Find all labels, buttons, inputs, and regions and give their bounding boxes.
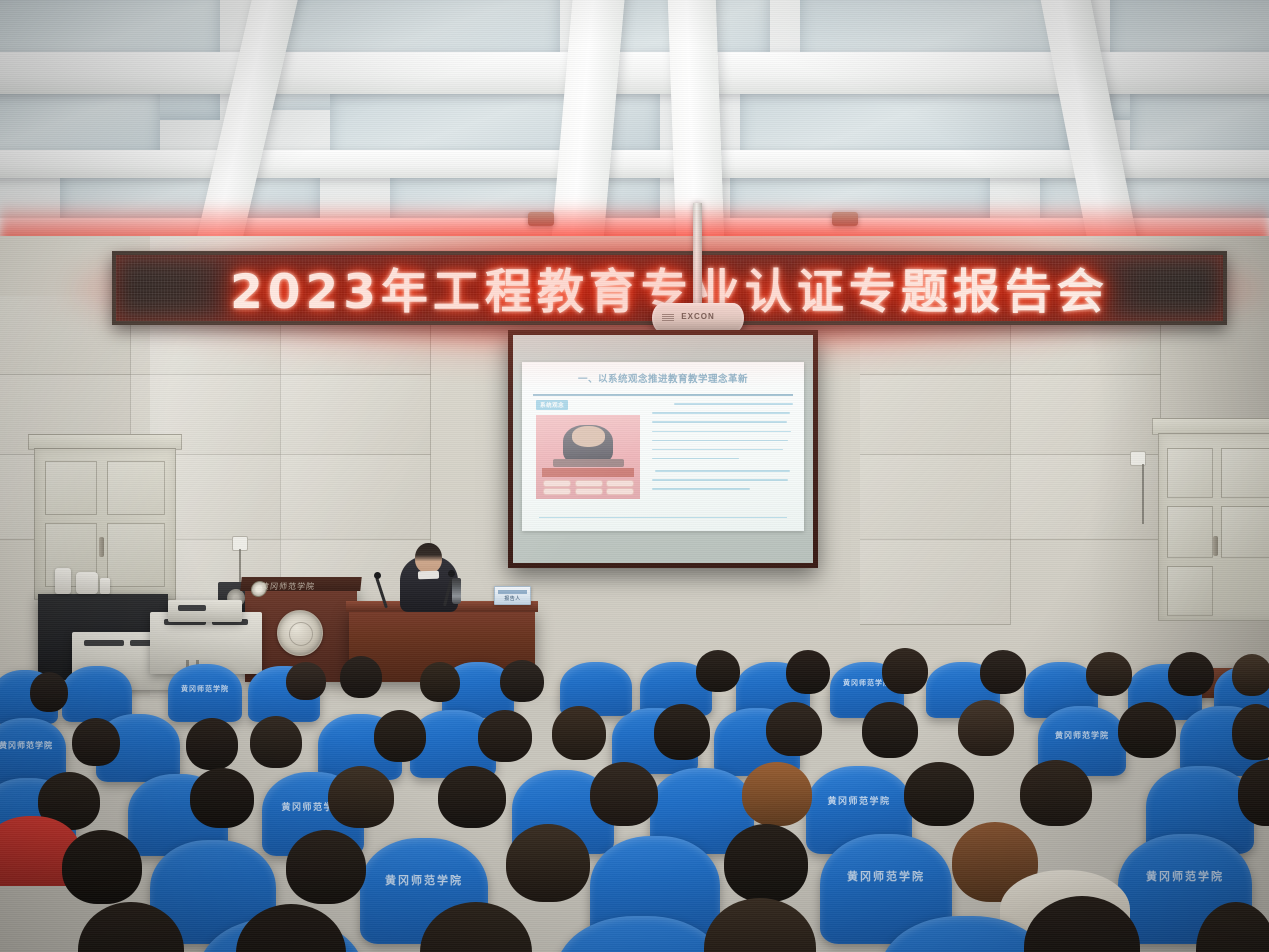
water-bottle <box>452 578 461 604</box>
audience-head <box>478 710 532 762</box>
nameplate-text: 报告人 <box>495 595 530 602</box>
photo-caption-bar <box>542 468 634 477</box>
ceiling-projector: EXCON <box>652 303 744 333</box>
photo-button <box>543 488 571 495</box>
audience-head <box>786 650 830 694</box>
audience-head <box>590 762 658 826</box>
audience-head <box>958 700 1014 756</box>
door-panel <box>1221 448 1269 498</box>
projection-screen: 一、以系统观念推进教育教学理念革新 系统观念 <box>508 330 818 568</box>
seat-label: 黄冈师范学院 <box>806 794 912 807</box>
audience-head <box>250 716 302 768</box>
seat-label: 黄冈师范学院 <box>168 684 242 694</box>
lectern-nameplate-text: 黄冈师范学院 <box>260 581 315 592</box>
photo-button <box>606 480 634 487</box>
audience-head <box>882 648 928 694</box>
photo-speaker-face <box>572 426 605 446</box>
door-panel <box>107 461 165 515</box>
audience-head <box>500 660 544 702</box>
audience-head <box>72 718 120 766</box>
speaker-head <box>415 543 442 573</box>
audience-head <box>1086 652 1132 696</box>
screen-surface: 一、以系统观念推进教育教学理念革新 系统观念 <box>513 335 813 563</box>
slide-body-text <box>652 401 793 502</box>
audience-head <box>862 702 918 758</box>
door-panel <box>1167 566 1213 616</box>
wall-panel <box>860 454 1011 540</box>
audience-head <box>654 704 710 760</box>
audience-head <box>186 718 238 770</box>
door-handle[interactable] <box>1213 536 1218 556</box>
audience-head <box>286 662 326 700</box>
projector-brand-label: EXCON <box>652 312 744 321</box>
audience-seating: 黄冈师范学院 黄冈师范学院 黄冈师范学院 <box>0 640 1269 952</box>
audience-head <box>980 650 1026 694</box>
presentation-slide: 一、以系统观念推进教育教学理念革新 系统观念 <box>522 362 804 531</box>
audience-head <box>328 766 394 828</box>
audience-head <box>742 762 812 826</box>
microphone-head-icon <box>448 570 455 577</box>
table-nameplate: 报告人 <box>494 586 531 605</box>
kettle-object <box>55 568 71 594</box>
audience-head <box>704 898 816 952</box>
slide-photo <box>536 415 640 499</box>
photo-button <box>543 480 571 487</box>
audience-head <box>506 824 590 902</box>
door-panel <box>107 523 165 587</box>
audience-head <box>904 762 974 826</box>
wall-panel <box>860 374 1011 455</box>
audience-head <box>1232 654 1269 696</box>
audience-head <box>340 656 382 698</box>
audience-head <box>1168 652 1214 696</box>
speaker-collar <box>418 571 439 580</box>
audience-head <box>1232 704 1269 760</box>
conference-hall-photo: 2023年工程教育专业认证专题报告会 EXCON 一、以系统观念推进教育教学理念… <box>0 0 1269 952</box>
power-cable <box>1142 464 1144 524</box>
seat-label: 黄冈师范学院 <box>1038 730 1126 741</box>
door-panel <box>1221 506 1269 558</box>
seat[interactable] <box>62 666 132 722</box>
desk-object <box>76 572 98 594</box>
seat-label: 黄冈师范学院 <box>820 868 952 884</box>
audience-head <box>696 650 740 692</box>
projector-mount-pole <box>693 203 702 307</box>
door-panel <box>1167 448 1213 498</box>
audience-head <box>30 672 68 712</box>
door-panel <box>45 461 97 515</box>
audience-head <box>190 768 254 828</box>
wall-panel <box>860 539 1011 625</box>
audience-head <box>552 706 606 760</box>
wall-panel <box>280 454 431 540</box>
equipment-case-3 <box>168 600 242 622</box>
photo-button <box>606 488 634 495</box>
photo-button <box>575 488 603 495</box>
slide-title-underline <box>533 394 792 395</box>
audience-head <box>420 662 460 702</box>
nameplate-accent-bar <box>498 590 527 594</box>
audience-head <box>724 824 808 902</box>
audience-head <box>766 702 822 756</box>
slide-bottom-rule <box>539 517 787 518</box>
seat-label: 黄冈师范学院 <box>0 740 66 751</box>
audience-head <box>438 766 506 828</box>
audience-head <box>1118 702 1176 758</box>
slide-title: 一、以系统观念推进教育教学理念革新 <box>533 371 792 385</box>
desk-object <box>100 578 110 594</box>
seat-label: 黄冈师范学院 <box>360 872 488 888</box>
slide-tag-label: 系统观念 <box>536 400 568 410</box>
audience-head <box>374 710 426 762</box>
door-handle[interactable] <box>99 537 104 557</box>
microphone-head-icon <box>374 572 381 579</box>
wall-panel <box>280 374 431 455</box>
seat[interactable]: 黄冈师范学院 <box>168 664 242 722</box>
photo-button <box>575 480 603 487</box>
audience-head <box>1020 760 1092 826</box>
seat-label: 黄冈师范学院 <box>1118 868 1252 884</box>
photo-podium <box>553 459 624 467</box>
audience-head <box>286 830 366 904</box>
ceiling <box>0 0 1269 250</box>
audience-head <box>62 830 142 904</box>
right-door[interactable] <box>1158 433 1269 621</box>
door-panel <box>1167 506 1213 558</box>
